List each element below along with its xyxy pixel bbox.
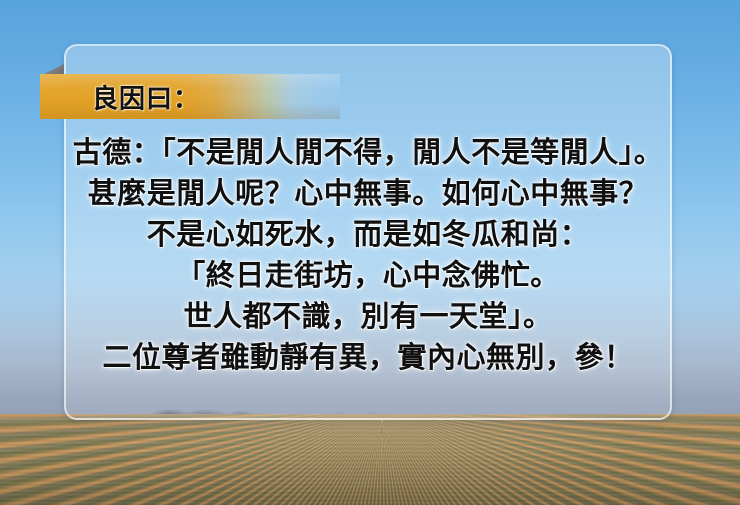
- header-title: 良因曰：: [92, 78, 200, 115]
- slide-canvas: 良因曰： 古德：「不是閒人閒不得，閒人不是等閒人」。 甚麼是閒人呢？心中無事。如…: [0, 0, 740, 505]
- verse-line: 古德：「不是閒人閒不得，閒人不是等閒人」。: [64, 133, 672, 174]
- verse-line: 「終日走街坊，心中念佛忙。: [64, 256, 672, 297]
- verse-line: 甚麼是閒人呢？心中無事。如何心中無事？: [64, 174, 672, 215]
- verse-text-block: 古德：「不是閒人閒不得，閒人不是等閒人」。 甚麼是閒人呢？心中無事。如何心中無事…: [64, 133, 672, 379]
- verse-line: 世人都不識，別有一天堂」。: [64, 297, 672, 338]
- field-light-vignette: [0, 414, 740, 505]
- verse-line: 不是心如死水，而是如冬瓜和尚：: [64, 215, 672, 256]
- verse-line: 二位尊者雖動靜有異，實內心無別，參！: [64, 338, 672, 379]
- harvested-field-background: [0, 414, 740, 505]
- header-ribbon: 良因曰：: [40, 74, 340, 119]
